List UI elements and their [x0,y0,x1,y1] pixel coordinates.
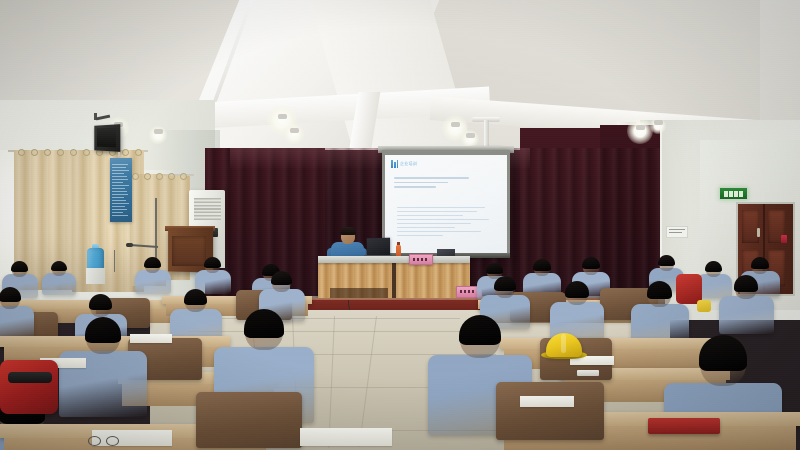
curtain-ring [156,173,163,180]
poster-text-row [112,209,127,210]
chair[interactable] [196,392,302,448]
slide-text-line [394,186,436,188]
spotlight-fixture [154,129,163,134]
chair[interactable] [496,382,604,440]
fire-alarm-icon[interactable] [781,235,787,243]
door-handle-icon[interactable] [757,228,760,237]
placard-text [460,290,476,293]
poster-text-row [112,185,129,186]
audience-person-hair [734,275,758,292]
laptop-icon[interactable] [367,238,390,257]
red-notebook [648,418,720,434]
curtain-ring [135,149,142,156]
poster-text-rows [112,164,130,218]
slide-text-line [397,227,455,228]
microphone-stand [155,198,157,260]
water-cooler-jug-icon [87,248,104,270]
slide-logo: 企业培训 [391,160,417,168]
spotlight-fixture [466,133,475,138]
slide-text-line [397,235,443,236]
projector-pole [484,120,489,148]
microphone-icon [126,243,133,247]
slide-logo-text: 企业培训 [400,161,417,167]
audience-person-hair [582,257,600,269]
audience-person-hair [144,257,161,268]
ac-grille [194,198,221,220]
audience-person-body [0,306,34,340]
slide-text-line [397,215,463,216]
audience-person-hair [89,294,112,310]
poster-text-row [112,188,125,189]
curtain-ring [44,149,51,156]
company-logo-icon [391,160,398,168]
presenter-hair [340,227,356,235]
exit-sign-char [729,191,733,197]
training-room-photo: 企业培训 [0,0,800,450]
audience-person-hair [533,259,551,271]
slide-text-line [397,219,489,220]
audience-person-hair [658,255,675,266]
audience-person-body [135,270,171,294]
ceiling-spotlight [284,124,304,144]
curtain-ring [144,173,151,180]
curtain-ring [180,173,187,180]
audience-person-hair [705,261,722,272]
poster-text-row [112,179,128,180]
curtain-ring [122,149,129,156]
poster-text-row [112,170,129,171]
hard-hat-ridge [561,334,566,353]
poster-text-row [112,182,123,183]
audience-person-hair [51,261,67,271]
water-cooler-body [86,268,105,284]
red-backpack [0,360,58,414]
paper-sheet [130,334,172,343]
placard-text [413,258,427,261]
audience-person-hair [204,257,221,268]
spotlight-fixture [278,114,287,119]
slide-text-line [397,211,477,212]
paper-sheet [520,396,574,407]
paper-sheet [300,428,392,446]
poster-text-row [112,191,127,192]
slide-text-line [394,177,469,179]
audience-person-body [719,296,774,334]
audience-person-hair [494,276,516,291]
poster-text-row [112,206,125,207]
curtain-ring [31,149,38,156]
speaker-grille [97,128,116,148]
curtain-ring [83,149,90,156]
glasses-lens [106,436,119,446]
head-table-top [318,256,470,263]
curtain-ring [132,173,139,180]
curtain-ring [57,149,64,156]
projection-screen: 企业培训 [385,155,507,253]
slide-body-lines [397,207,497,239]
audience-person-hair [699,335,747,371]
exit-sign-char [739,191,743,197]
lectern-panel [172,236,206,266]
poster-text-row [112,215,128,216]
audience-person-hair [184,289,207,305]
spotlight-fixture [290,128,299,133]
wall-notice-sign [666,226,688,238]
ceiling-spotlight [627,118,653,144]
audience-person-hair [751,257,769,269]
slide-text-line [394,182,448,184]
poster-text-row [112,197,124,198]
audience-person-hair [565,281,589,298]
wall-speaker-icon [94,124,120,152]
poster-text-row [112,167,126,168]
poster-text-row [112,176,127,177]
exit-sign-char [734,191,738,197]
door-panel [742,210,759,243]
slide-heading-lines [394,177,498,209]
slide-text-line [397,223,471,224]
yellow-cup-icon [697,300,711,312]
audience-person-hair [486,263,503,274]
mobile-phone-icon[interactable] [577,370,599,376]
poster-text-row [112,212,123,213]
backpack-strap [8,372,52,383]
microphone-stand-2 [114,250,115,272]
spotlight-fixture [636,125,645,130]
spotlight-fixture [451,122,460,127]
glasses-lens [88,436,101,446]
audience-person-hair [647,281,672,299]
audience-person-hair [11,261,28,272]
poster-text-row [112,173,124,174]
wall-poster [110,158,132,222]
poster-text-row [112,200,126,201]
slide-text-line [397,231,481,232]
wall-sign-line [669,229,685,230]
eyeglasses-icon [88,436,118,446]
curtain-ring [70,149,77,156]
audience-person-hair [271,271,292,285]
audience-person-body [42,273,76,295]
slide-text-line [397,207,485,208]
exit-sign [719,187,748,200]
wall-sign-line [669,232,682,233]
curtain-ring [18,149,25,156]
poster-text-row [112,203,129,204]
spotlight-fixture [654,120,663,125]
curtain-ring [168,173,175,180]
poster-text-row [112,164,128,165]
poster-text-row [112,194,128,195]
exit-sign-char [724,191,728,197]
